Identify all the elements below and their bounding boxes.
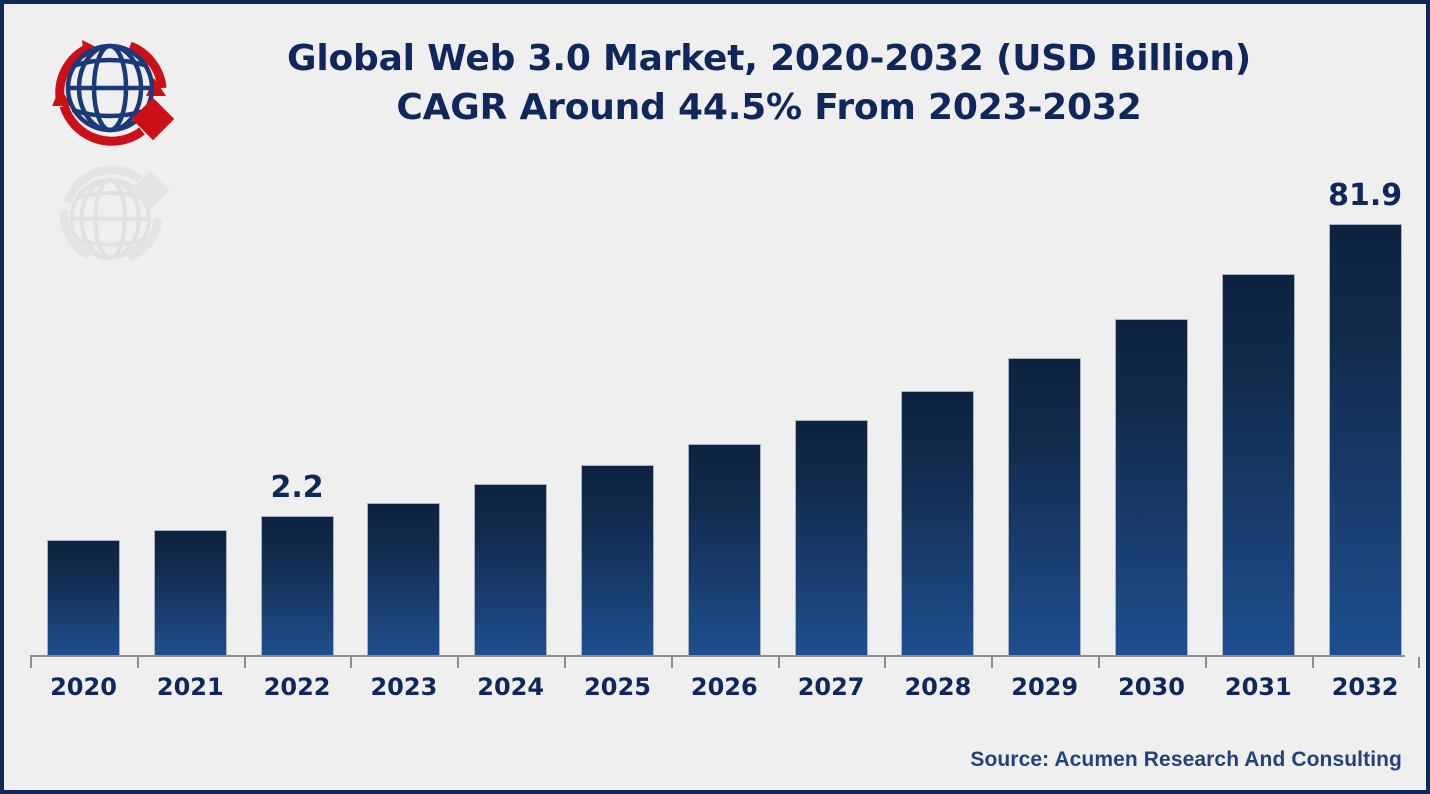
x-axis-tick-end: [1418, 657, 1420, 668]
x-axis-label-2027: 2027: [776, 672, 886, 702]
bar-2022: [261, 516, 334, 656]
x-axis-tick-2032: [1312, 657, 1314, 668]
infographic-canvas: Global Web 3.0 Market, 2020-2032 (USD Bi…: [0, 0, 1430, 794]
bar-2031: [1222, 274, 1295, 656]
x-axis-tick-2029: [991, 657, 993, 668]
bar-2025: [581, 465, 654, 656]
x-axis-label-2025: 2025: [563, 672, 673, 702]
bar-2021: [154, 530, 227, 656]
source-attribution: Source: Acumen Research And Consulting: [970, 748, 1402, 772]
x-axis-label-2028: 2028: [883, 672, 993, 702]
value-label-2022: 2.2: [237, 473, 357, 503]
bar-2024: [474, 484, 547, 656]
x-axis-label-2024: 2024: [456, 672, 566, 702]
value-label-2032: 81.9: [1305, 181, 1425, 211]
x-axis-label-2031: 2031: [1203, 672, 1313, 702]
bar-2026: [688, 444, 761, 656]
bar-2028: [901, 391, 974, 656]
bar-chart: 2020202120222023202420252026202720282029…: [4, 4, 1430, 794]
x-axis-label-2026: 2026: [669, 672, 779, 702]
x-axis-label-2030: 2030: [1097, 672, 1207, 702]
bar-2029: [1008, 358, 1081, 656]
bar-2027: [795, 420, 868, 656]
x-axis-tick-2031: [1205, 657, 1207, 668]
x-axis-tick-2024: [457, 657, 459, 668]
x-axis-tick-2022: [244, 657, 246, 668]
bar-2032: [1329, 224, 1402, 656]
x-axis-tick-2030: [1098, 657, 1100, 668]
bar-2020: [47, 540, 120, 656]
plot-area: [30, 164, 1405, 656]
x-axis-tick-2027: [778, 657, 780, 668]
x-axis-tick-2023: [350, 657, 352, 668]
x-axis-label-2029: 2029: [990, 672, 1100, 702]
x-axis-tick-2020: [30, 657, 32, 668]
x-axis-label-2020: 2020: [29, 672, 139, 702]
x-axis-label-2022: 2022: [242, 672, 352, 702]
x-axis-tick-2025: [564, 657, 566, 668]
x-axis-tick-2026: [671, 657, 673, 668]
bar-2030: [1115, 319, 1188, 656]
bar-2023: [367, 503, 440, 656]
x-axis-label-2032: 2032: [1310, 672, 1420, 702]
x-axis-label-2021: 2021: [135, 672, 245, 702]
x-axis-line: [30, 655, 1405, 657]
x-axis-label-2023: 2023: [349, 672, 459, 702]
x-axis-tick-2021: [137, 657, 139, 668]
x-axis-tick-2028: [884, 657, 886, 668]
